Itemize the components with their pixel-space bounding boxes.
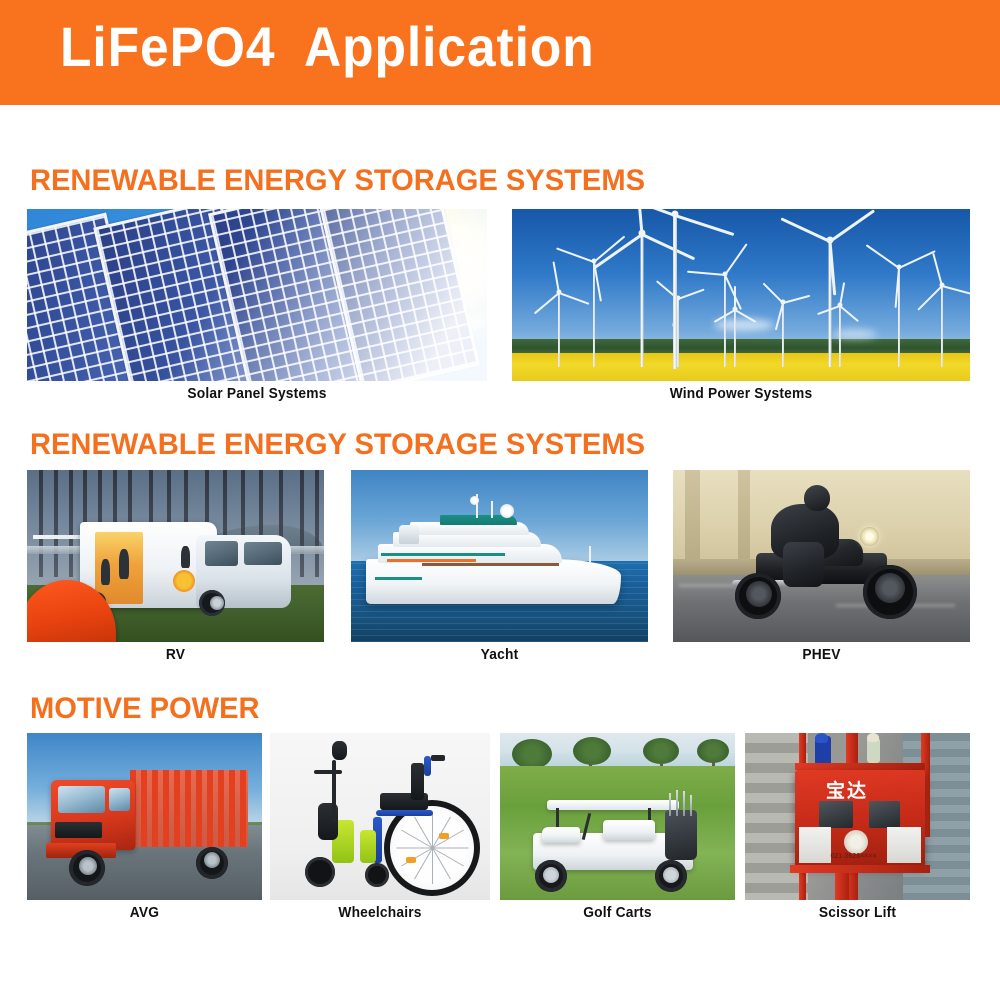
- handbike-front-wheel: [305, 857, 335, 887]
- golf-cart-image: [500, 733, 735, 900]
- turbine-mast: [734, 309, 736, 367]
- figure-caption: Yacht: [358, 647, 640, 663]
- ship-radome: [470, 496, 479, 505]
- wall-beam: [685, 470, 700, 559]
- turbine-mast: [941, 285, 943, 368]
- cruise-ship-image: [351, 470, 648, 642]
- ship-funnel: [399, 525, 420, 544]
- truck-side-window: [109, 788, 130, 811]
- solar-panels-image: [27, 209, 487, 381]
- figure-caption: Golf Carts: [506, 905, 729, 921]
- truck-grille: [55, 822, 102, 839]
- wheelchair-image: [270, 733, 490, 900]
- figure-caption: Wind Power Systems: [523, 386, 958, 402]
- cart-front-hub: [543, 867, 559, 883]
- figure-golf-carts: Golf Carts: [500, 733, 735, 921]
- section-heading-renewable-energy-1: RENEWABLE ENERGY STORAGE SYSTEMS: [30, 164, 645, 198]
- headlight: [860, 527, 879, 546]
- handbike-mirror: [332, 741, 347, 759]
- hoist-platform-rail: [795, 763, 926, 770]
- wall-beam: [738, 470, 750, 559]
- turbine-mast: [558, 292, 560, 368]
- figure-caption: AVG: [33, 905, 256, 921]
- cart-rear-hub: [663, 867, 679, 883]
- rv-hubcap: [210, 596, 224, 610]
- page-title: LiFePO4 Application: [60, 14, 595, 79]
- construction-hoist-image: 宝达 021-3628××××: [745, 733, 970, 900]
- wind-turbines-image: [512, 209, 970, 381]
- handbike-green-body: [360, 830, 375, 863]
- rv-camper-image: [27, 470, 324, 642]
- hoist-base-rail: [790, 865, 930, 873]
- deck-stripe-teal: [375, 577, 423, 580]
- turbine-mast: [782, 302, 784, 367]
- figure-scissor-lift: 宝达 021-3628×××× Scissor Lift: [745, 733, 970, 921]
- wheelchair-caster-wheel: [365, 863, 389, 887]
- ship-hull: [366, 559, 621, 604]
- figure-phev: PHEV: [673, 470, 970, 663]
- turbine-blade: [724, 275, 742, 310]
- figure-yacht: Yacht: [351, 470, 648, 663]
- cart-front-cowl: [542, 827, 580, 844]
- truck-front-hub: [79, 857, 97, 875]
- ship-radome: [500, 504, 514, 518]
- hoist-window: [869, 801, 901, 828]
- wheelchair-handle-grip: [431, 755, 445, 761]
- turbine-mast: [839, 305, 841, 367]
- figure-wind-power-systems: Wind Power Systems: [512, 209, 970, 402]
- wheelchair-backrest: [411, 763, 424, 800]
- wheelchair-push-handle: [424, 756, 431, 776]
- solar-panel-array: [27, 209, 487, 381]
- golf-club: [676, 790, 678, 817]
- truck-cargo-bed: [130, 770, 248, 847]
- wind-turbine: [874, 267, 924, 367]
- truck-windshield: [58, 786, 105, 813]
- rider-legs: [783, 542, 825, 587]
- hoist-phone-label: 021-3628××××: [831, 853, 877, 860]
- deck-stripe-orange: [387, 559, 476, 562]
- figure-caption: Scissor Lift: [751, 905, 965, 921]
- rv-emblem: [173, 570, 195, 592]
- figure-solar-panel-systems: Solar Panel Systems: [27, 209, 487, 402]
- ship-mast: [589, 546, 591, 563]
- hoist-panel-right: [887, 827, 921, 864]
- rv-window: [205, 541, 238, 567]
- figure-caption: Wheelchairs: [276, 905, 485, 921]
- figure-caption: PHEV: [680, 647, 962, 663]
- figure-caption: RV: [34, 647, 316, 663]
- hoist-support-column: [835, 873, 849, 900]
- golf-club: [683, 791, 685, 816]
- figure-rv: RV: [27, 470, 324, 663]
- deck-stripe-brown: [422, 563, 559, 566]
- hoist-panel-left: [799, 827, 831, 864]
- page-header-banner: LiFePO4 Application: [0, 0, 1000, 105]
- turbine-blade: [917, 285, 942, 310]
- front-rim: [875, 573, 905, 603]
- cart-roof: [547, 800, 679, 810]
- wheelchair-frame: [376, 810, 433, 817]
- wheel-reflector: [406, 857, 416, 863]
- golf-club: [690, 795, 692, 817]
- turbine-mast: [673, 214, 677, 369]
- wind-turbine: [920, 285, 964, 368]
- hoist-brand-label: 宝达: [826, 776, 868, 803]
- cargo-truck-image: [27, 733, 262, 900]
- worker-helmet: [815, 733, 828, 743]
- person-figure: [119, 549, 129, 579]
- hoist-emblem: [844, 830, 868, 854]
- figure-caption: Solar Panel Systems: [39, 386, 476, 402]
- turbine-blade: [734, 286, 736, 310]
- wheel-reflector: [439, 833, 449, 839]
- rear-rim: [746, 581, 772, 607]
- ship-mast: [491, 501, 493, 518]
- section-heading-motive-power: MOTIVE POWER: [30, 692, 260, 726]
- golf-club: [669, 793, 671, 816]
- turbine-blade: [840, 306, 860, 323]
- hoist-window: [819, 801, 853, 828]
- palm-trees: [500, 736, 735, 766]
- deck-stripe-teal: [381, 553, 506, 556]
- person-figure: [101, 559, 110, 585]
- figure-wheelchairs: Wheelchairs: [270, 733, 490, 921]
- motorcycle-image: [673, 470, 970, 642]
- figure-avg: AVG: [27, 733, 262, 921]
- cart-seat: [603, 820, 655, 840]
- rider-helmet: [804, 485, 830, 511]
- worker-helmet: [867, 733, 879, 742]
- handbike-handlebar: [314, 770, 342, 774]
- wind-turbine: [718, 309, 752, 367]
- wind-turbine: [823, 305, 857, 367]
- golf-bag: [665, 810, 698, 860]
- section-heading-renewable-energy-2: RENEWABLE ENERGY STORAGE SYSTEMS: [30, 428, 645, 462]
- person-figure: [181, 546, 190, 568]
- rv-windshield: [244, 542, 283, 564]
